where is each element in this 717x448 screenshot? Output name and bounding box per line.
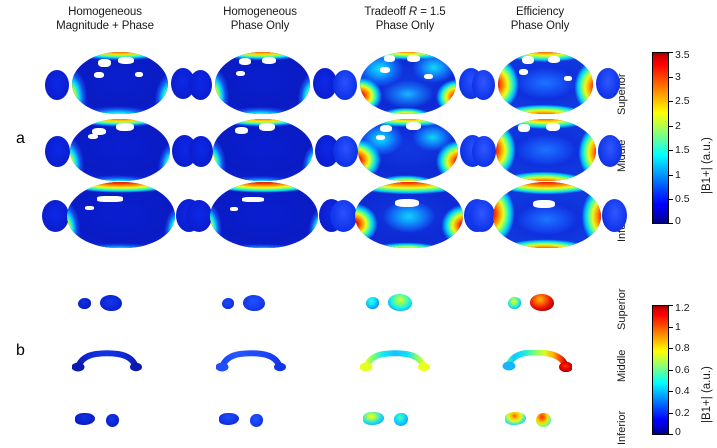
column-header-4-line1: Efficiency [516,6,564,18]
roi-lobe-right [536,413,551,427]
colorbar-b-tick-1: 1 [675,321,681,333]
map-a-r1-c1 [45,52,195,114]
arm-left [333,70,357,100]
arm-left [45,136,70,167]
arm-right [596,68,620,99]
map-a-r2-c4 [472,119,622,181]
colorbar-a-tick-1: 1 [675,169,681,181]
map-b-r1-c2 [222,295,280,317]
tissue-void [380,67,390,73]
tissue-void [116,123,134,131]
roi-arch [502,350,572,372]
colorbar-a-tick-2: 2 [675,120,681,132]
colorbar-a-label: |B1+| (a.u.) [701,137,713,194]
tissue-void [384,55,395,62]
torso-slice [493,182,601,248]
roi-lobe-left [363,412,384,425]
arm-right [598,135,622,167]
column-header-2-line2: Phase Only [180,20,340,34]
colorbar-panel-b: 1.2 1 0.8 0.6 0.4 0.2 0 |B1+| (a.u.) [652,305,714,435]
torso-slice [498,52,593,114]
colorbar-b-tick-0.2: 0.2 [675,407,690,419]
map-b-r1-c1 [78,295,136,317]
tissue-void [242,197,264,202]
row-label-b-middle: Middle [616,350,628,382]
arm-left [472,70,495,100]
arm-right [602,199,627,232]
tissue-void [546,123,560,131]
map-b-r3-c1 [75,412,133,432]
roi-lobe-right [106,414,119,427]
map-a-r3-c4 [469,182,627,248]
tissue-void [118,57,134,64]
tissue-void [376,135,385,140]
column-header-3-value: = 1.5 [417,6,446,18]
map-a-r1-c4 [472,52,620,114]
torso-slice [358,119,458,181]
colorbar-b-tick-0.6: 0.6 [675,364,690,376]
colorbar-gradient-a [652,52,669,224]
colorbar-b-tick-1.2: 1.2 [675,302,690,314]
map-b-r2-c3 [360,350,430,372]
arm-left [42,200,69,232]
map-b-r3-c4 [505,411,563,431]
map-a-r3-c3 [330,182,490,248]
arm-left [45,70,69,100]
roi-lobe-right [394,413,408,426]
arm-left [186,200,212,232]
column-header-2: Homogeneous Phase Only [180,6,340,33]
map-a-r2-c3 [333,119,485,181]
tissue-void [380,125,392,132]
column-header-1-line1: Homogeneous [68,6,142,18]
arm-left [189,70,212,100]
colorbar-a-tick-0.5: 0.5 [675,193,690,205]
roi-lobe-right [250,414,263,427]
torso-slice [215,52,310,114]
tissue-void [564,76,572,81]
colorbar-b-tick-0.4: 0.4 [675,385,690,397]
tissue-void [548,56,560,63]
row-label-b-inferior: Inferior [616,411,628,445]
torso-slice [210,182,318,248]
map-a-r3-c1 [42,182,202,248]
tissue-void [235,127,248,134]
tissue-void [85,206,94,210]
torso-slice [360,52,456,114]
colorbar-gradient-b [652,305,669,435]
tissue-void [239,58,251,65]
figure-canvas: Homogeneous Magnitude + Phase Homogeneou… [0,0,717,448]
torso-slice [70,119,170,181]
torso-slice [355,182,463,248]
roi-lobe-right [243,295,265,311]
column-header-4: Efficiency Phase Only [465,6,615,33]
arm-left [330,200,357,232]
torso-slice [72,52,168,114]
map-b-r1-c4 [508,294,566,316]
tissue-void [135,72,143,77]
arm-left [472,136,496,167]
column-header-1: Homogeneous Magnitude + Phase [20,6,190,33]
map-a-r1-c2 [189,52,337,114]
colorbar-a-tick-3: 3 [675,71,681,83]
colorbar-b-label: |B1+| (a.u.) [701,366,713,423]
tissue-void [424,74,433,79]
map-b-r2-c4 [502,350,572,372]
tissue-void [88,134,98,139]
column-header-3-symbol: R [409,6,417,18]
panel-letter-a: a [16,130,25,148]
column-header-3: Tradeoff R = 1.5 Phase Only [325,6,485,33]
roi-lobe-left [222,298,234,309]
arm-left [333,136,358,167]
colorbar-b-tick-0.8: 0.8 [675,342,690,354]
tissue-void [98,59,111,67]
colorbar-a-tick-3.5: 3.5 [675,49,690,61]
tissue-void [533,200,555,208]
row-label-b-superior: Superior [616,288,628,330]
colorbar-a-tick-1.5: 1.5 [675,144,690,156]
tissue-void [262,57,276,64]
map-a-r1-c3 [333,52,483,114]
map-a-r2-c2 [189,119,339,181]
map-b-r3-c2 [219,412,277,432]
tissue-void [230,207,238,211]
torso-slice [67,182,175,248]
map-a-r2-c1 [45,119,197,181]
map-a-r3-c2 [186,182,344,248]
roi-lobe-right [100,295,122,311]
tissue-void [259,123,275,131]
tissue-void [97,196,123,202]
roi-arch [72,350,142,372]
colorbar-panel-a: 3.5 3 2.5 2 1.5 1 0.5 0 |B1+| (a.u.) [652,52,714,224]
map-b-r2-c2 [216,350,286,372]
roi-arch [216,350,286,372]
roi-lobe-left [75,413,95,425]
torso-slice [213,119,313,181]
arm-left [469,200,495,232]
colorbar-a-tick-0: 0 [675,215,681,227]
colorbar-a-tick-2.5: 2.5 [675,95,690,107]
roi-lobe-left [366,297,379,309]
torso-slice [496,119,596,181]
roi-arch [360,350,430,372]
column-header-4-line2: Phase Only [465,20,615,34]
tissue-void [518,124,530,132]
tissue-void [94,72,104,78]
tissue-void [522,56,534,64]
colorbar-b-tick-0: 0 [675,426,681,438]
roi-lobe-right [530,294,554,311]
column-header-3-prefix: Tradeoff [364,6,409,18]
column-header-3-line1: Tradeoff R = 1.5 [364,6,445,18]
tissue-void [395,199,419,207]
roi-lobe-left [78,298,91,309]
column-header-3-line2: Phase Only [325,20,485,34]
roi-lobe-left [508,297,521,309]
map-b-r3-c3 [363,411,421,431]
roi-lobe-left [219,413,239,425]
arm-left [189,136,213,167]
roi-lobe-right [388,294,412,311]
column-header-1-line2: Magnitude + Phase [20,20,190,34]
map-b-r1-c3 [366,294,424,316]
roi-lobe-left [505,412,526,425]
tissue-void [406,122,421,130]
map-b-r2-c1 [72,350,142,372]
panel-letter-b: b [16,342,25,360]
tissue-void [407,55,420,62]
tissue-void [519,69,528,75]
tissue-void [236,71,245,76]
column-header-2-line1: Homogeneous [223,6,297,18]
